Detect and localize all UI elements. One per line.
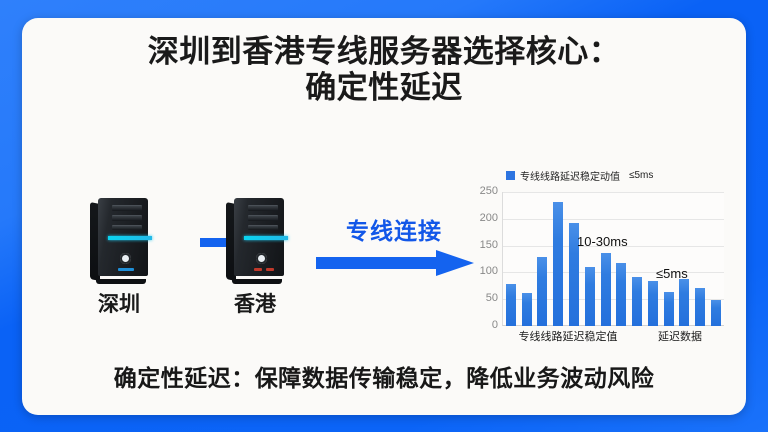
- y-axis-tick-label: 250: [462, 185, 498, 197]
- chart-bar: [679, 279, 689, 326]
- chart-bars: [503, 192, 724, 326]
- server-hongkong: [226, 198, 284, 280]
- legend-swatch-icon: [506, 171, 515, 180]
- chart-bar: [664, 292, 674, 326]
- y-axis-tick-label: 150: [462, 239, 498, 251]
- chart-bar: [632, 277, 642, 326]
- chart-x-axis-labels: 专线线路延迟稳定值 延迟数据: [502, 328, 726, 344]
- chart-bar: [648, 281, 658, 326]
- chart-bar: [695, 288, 705, 326]
- chart-bar: [711, 300, 721, 326]
- chart-annotation-2: ≤5ms: [656, 266, 688, 281]
- summary-caption: 确定性延迟：保障数据传输稳定，降低业务波动风险: [22, 359, 746, 393]
- chart-bar: [601, 253, 611, 326]
- chart-bar: [522, 293, 532, 326]
- arrow-shaft: [316, 257, 438, 269]
- legend-extra-label: ≤5ms: [629, 170, 653, 181]
- drive-bay-icon: [112, 215, 142, 221]
- chart-annotation-1: 10-30ms: [577, 234, 628, 249]
- x-axis-group-label-2: 延迟数据: [634, 328, 726, 344]
- dedicated-link-label: 专线连接: [310, 212, 478, 246]
- server-base: [96, 279, 146, 284]
- chart-bar: [585, 267, 595, 326]
- network-diagram: 深圳 香港 专线连接: [82, 198, 477, 343]
- server-base: [232, 279, 282, 284]
- y-axis-tick-label: 0: [462, 319, 498, 331]
- status-led-icon: [266, 268, 274, 271]
- dedicated-link-callout: 专线连接: [310, 212, 478, 290]
- power-button-icon: [256, 253, 267, 264]
- slide-stage: 深圳到香港专线服务器选择核心： 确定性延迟 深圳: [0, 0, 768, 432]
- page-title: 深圳到香港专线服务器选择核心： 确定性延迟: [22, 34, 746, 106]
- chart-legend: 专线线路延迟稳定动值 ≤5ms: [506, 168, 653, 183]
- server-chassis: [234, 198, 284, 276]
- source-city-label: 深圳: [74, 288, 164, 318]
- drive-bay-icon: [112, 205, 142, 211]
- y-axis-tick-label: 50: [462, 292, 498, 304]
- status-led-icon: [118, 268, 134, 271]
- power-button-icon: [120, 253, 131, 264]
- chart-bar: [537, 257, 547, 326]
- server-chassis: [98, 198, 148, 276]
- chart-bar: [616, 263, 626, 326]
- status-led-icon: [254, 268, 262, 271]
- chart-bar: [553, 202, 563, 326]
- latency-bar-chart: 专线线路延迟稳定动值 ≤5ms 250200150100500 10-30ms …: [462, 168, 732, 358]
- drive-bay-icon: [248, 225, 278, 230]
- legend-label: 专线线路延迟稳定动值: [520, 168, 620, 183]
- y-axis-tick-label: 100: [462, 265, 498, 277]
- drive-bay-icon: [112, 225, 142, 230]
- accent-stripe: [108, 236, 152, 240]
- content-card: 深圳到香港专线服务器选择核心： 确定性延迟 深圳: [22, 18, 746, 415]
- accent-stripe: [244, 236, 288, 240]
- server-shenzhen: [90, 198, 148, 280]
- drive-bay-icon: [248, 215, 278, 221]
- target-city-label: 香港: [210, 288, 300, 318]
- dedicated-link-arrow-icon: [316, 250, 474, 276]
- y-axis-tick-label: 200: [462, 212, 498, 224]
- x-axis-group-label-1: 专线线路延迟稳定值: [502, 328, 634, 344]
- drive-bay-icon: [248, 205, 278, 211]
- chart-bar: [506, 284, 516, 326]
- title-line-1: 深圳到香港专线服务器选择核心：: [22, 34, 746, 70]
- title-line-2: 确定性延迟: [22, 70, 746, 106]
